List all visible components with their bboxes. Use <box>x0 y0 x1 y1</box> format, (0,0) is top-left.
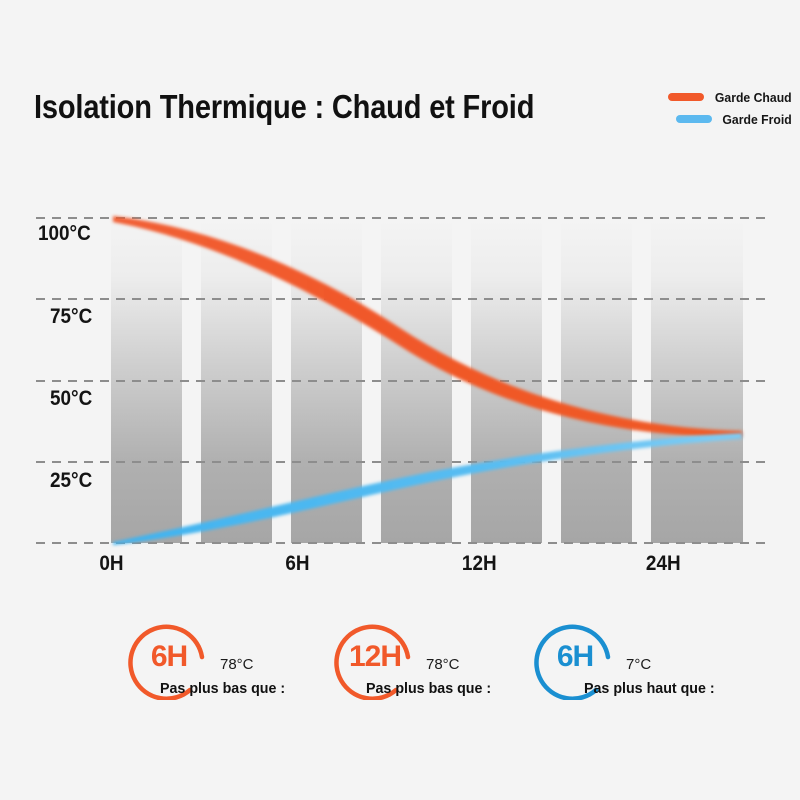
legend-item-cold: Garde Froid <box>662 108 792 130</box>
legend-swatch-cold-icon <box>676 115 712 123</box>
x-tick-0h: 0H <box>99 552 123 576</box>
legend-label-cold: Garde Froid <box>723 112 792 127</box>
x-tick-6h: 6H <box>285 552 309 576</box>
badge-note-1: Pas plus bas que : <box>160 680 285 697</box>
spec-badges: 6H 78°C Pas plus bas que : 12H 78°C Pas … <box>0 608 800 728</box>
y-tick-100: 100°C <box>38 222 91 246</box>
chart-canvas <box>0 200 800 560</box>
badge-note-2: Pas plus bas que : <box>366 680 491 697</box>
infographic-root: Isolation Thermique : Chaud et Froid Gar… <box>0 0 800 800</box>
legend-item-hot: Garde Chaud <box>662 86 792 108</box>
badge-temp-2: 78°C <box>426 656 460 673</box>
page-title: Isolation Thermique : Chaud et Froid <box>34 88 534 126</box>
badge-hot-12h: 12H 78°C Pas plus bas que : <box>318 608 548 718</box>
badge-temp-3: 7°C <box>626 656 651 673</box>
x-tick-24h: 24H <box>646 552 681 576</box>
thermal-chart <box>0 200 800 560</box>
legend-swatch-hot-icon <box>668 93 704 101</box>
x-tick-12h: 12H <box>462 552 497 576</box>
legend-label-hot: Garde Chaud <box>715 90 792 105</box>
badge-temp-1: 78°C <box>220 656 254 673</box>
badge-note-3: Pas plus haut que : <box>584 680 715 697</box>
y-tick-25: 25°C <box>50 469 92 493</box>
y-tick-50: 50°C <box>50 387 92 411</box>
badge-hot-6h: 6H 78°C Pas plus bas que : <box>112 608 342 718</box>
y-tick-75: 75°C <box>50 305 92 329</box>
badge-cold-6h: 6H 7°C Pas plus haut que : <box>518 608 748 718</box>
chart-legend: Garde Chaud Garde Froid <box>662 86 792 130</box>
